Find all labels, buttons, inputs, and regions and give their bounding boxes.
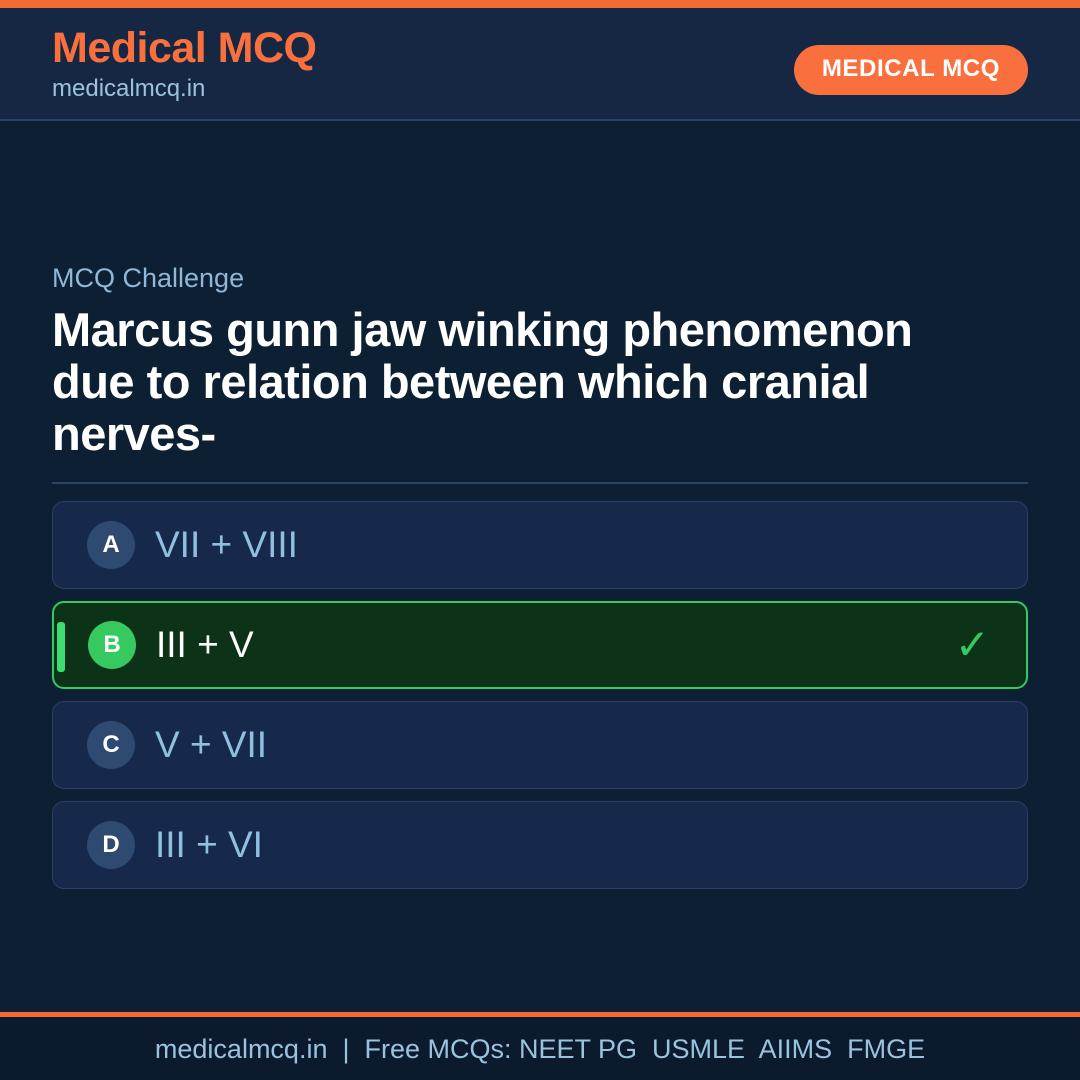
- option-row-c[interactable]: C V + VII: [52, 701, 1028, 789]
- logo-subtitle: medicalmcq.in: [52, 74, 317, 104]
- option-letter-badge: A: [87, 521, 135, 569]
- option-letter-badge: D: [87, 821, 135, 869]
- question-divider: [52, 482, 1028, 484]
- brand-pill-badge[interactable]: MEDICAL MCQ: [794, 45, 1028, 95]
- option-letter-badge: B: [88, 621, 136, 669]
- selected-accent-bar: [57, 622, 65, 672]
- eyebrow-label: MCQ Challenge: [52, 262, 1028, 294]
- page-footer: medicalmcq.in | Free MCQs: NEET PG USMLE…: [0, 1017, 1080, 1080]
- option-row-d[interactable]: D III + VI: [52, 801, 1028, 889]
- option-row-b[interactable]: B III + V ✓: [52, 601, 1028, 689]
- option-label: V + VII: [155, 725, 267, 765]
- top-accent-bar: [0, 0, 1080, 8]
- option-row-a[interactable]: A VII + VIII: [52, 501, 1028, 589]
- correct-check-icon: ✓: [955, 624, 990, 666]
- option-label: VII + VIII: [155, 525, 298, 565]
- logo-title: Medical MCQ: [52, 24, 317, 72]
- question-block: MCQ Challenge Marcus gunn jaw winking ph…: [52, 262, 1028, 484]
- page-header: Medical MCQ medicalmcq.in MEDICAL MCQ: [0, 8, 1080, 121]
- logo-block[interactable]: Medical MCQ medicalmcq.in: [52, 24, 317, 104]
- option-letter-badge: C: [87, 721, 135, 769]
- options-list: A VII + VIII B III + V ✓ C V + VII D III…: [52, 501, 1028, 901]
- question-text: Marcus gunn jaw winking phenomenon due t…: [52, 304, 972, 460]
- option-label: III + VI: [155, 825, 263, 865]
- footer-text: medicalmcq.in | Free MCQs: NEET PG USMLE…: [155, 1034, 925, 1064]
- option-label: III + V: [156, 625, 254, 665]
